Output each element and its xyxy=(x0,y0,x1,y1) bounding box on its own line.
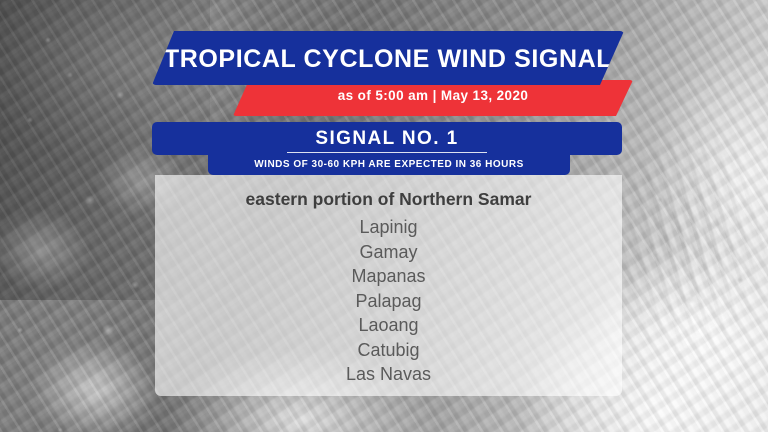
signal-number-label: SIGNAL NO. 1 xyxy=(152,128,622,150)
affected-area-heading: eastern portion of Northern Samar xyxy=(155,189,622,210)
tropical-cyclone-wind-signal-graphic: as of 5:00 am | May 13, 2020 TROPICAL CY… xyxy=(0,0,768,432)
signal-number-box: SIGNAL NO. 1 xyxy=(152,122,622,155)
list-item: Las Navas xyxy=(155,362,622,387)
signal-subtitle-box: WINDS OF 30-60 KPH ARE EXPECTED IN 36 HO… xyxy=(208,155,570,175)
municipality-list: LapinigGamayMapanasPalapagLaoangCatubigL… xyxy=(155,215,622,387)
list-item: Mapanas xyxy=(155,264,622,289)
list-item: Palapag xyxy=(155,289,622,314)
timestamp-banner: as of 5:00 am | May 13, 2020 xyxy=(233,80,633,116)
list-item: Catubig xyxy=(155,338,622,363)
affected-areas-panel: eastern portion of Northern Samar Lapini… xyxy=(155,175,622,396)
list-item: Lapinig xyxy=(155,215,622,240)
signal-divider-rule xyxy=(287,152,487,153)
list-item: Laoang xyxy=(155,313,622,338)
signal-subtitle-label: WINDS OF 30-60 KPH ARE EXPECTED IN 36 HO… xyxy=(208,159,570,170)
page-title: TROPICAL CYCLONE WIND SIGNAL xyxy=(152,45,624,74)
list-item: Gamay xyxy=(155,240,622,265)
timestamp-label: as of 5:00 am | May 13, 2020 xyxy=(233,88,633,103)
title-banner: TROPICAL CYCLONE WIND SIGNAL xyxy=(152,31,624,85)
